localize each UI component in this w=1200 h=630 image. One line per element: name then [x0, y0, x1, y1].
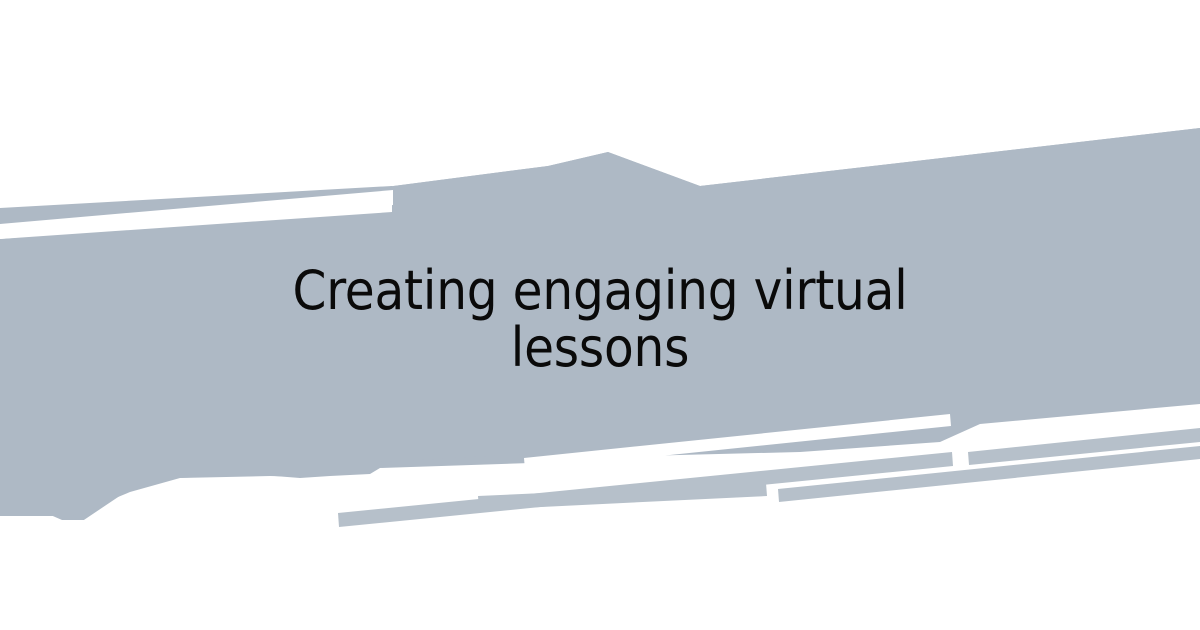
banner-card: Creating engaging virtual lessons: [0, 0, 1200, 630]
top-dash-small-1: [697, 138, 715, 158]
top-dash-medium: [734, 132, 770, 155]
banner-background-art: [0, 0, 1200, 630]
